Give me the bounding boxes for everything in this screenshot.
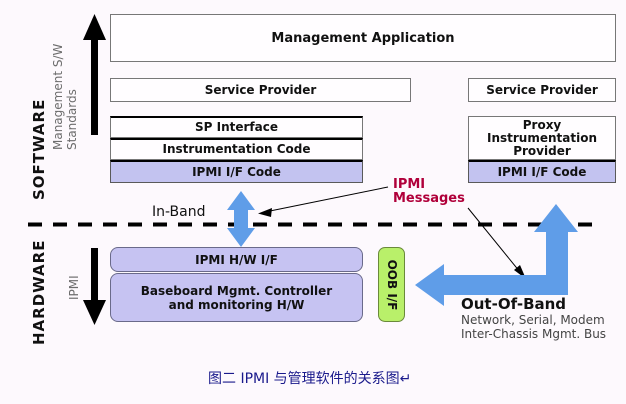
diagram-canvas: SOFTWARE HARDWARE Management S/W Standar…	[0, 0, 626, 404]
axis-label-hardware: HARDWARE	[30, 240, 48, 345]
arrow-out-of-band-elbow	[415, 204, 578, 306]
box-instrumentation-code: Instrumentation Code	[110, 138, 363, 160]
bmc-line-2: and monitoring H/W	[169, 298, 305, 312]
box-ipmi-hw-if: IPMI H/W I/F	[110, 247, 363, 272]
axis-label-mgmt-standards-line1: Management S/W	[52, 44, 65, 150]
ipmi-messages-line-2: Messages	[393, 192, 465, 206]
label-ipmi-messages: IPMI Messages	[393, 178, 465, 206]
leader-line-ipmi-messages-in-band	[258, 187, 388, 217]
label-out-of-band-sub: Network, Serial, Modem Inter-Chassis Mgm…	[461, 313, 606, 341]
oob-if-label: OOB I/F	[385, 259, 399, 310]
axis-label-ipmi: IPMI	[68, 275, 81, 300]
axis-label-mgmt-standards-line2: Standards	[66, 89, 79, 150]
out-of-band-sub-line-1: Network, Serial, Modem	[461, 313, 606, 327]
out-of-band-sub-line-2: Inter-Chassis Mgmt. Bus	[461, 327, 606, 341]
box-proxy-instrumentation-provider: Proxy Instrumentation Provider	[468, 116, 616, 160]
bmc-line-1: Baseboard Mgmt. Controller	[141, 284, 332, 298]
arrow-down-ipmi	[83, 248, 106, 325]
box-service-provider-left: Service Provider	[110, 78, 411, 102]
box-sp-interface: SP Interface	[110, 116, 363, 138]
proxy-line-2: Instrumentation	[487, 132, 597, 145]
box-oob-if: OOB I/F	[378, 247, 405, 322]
figure-caption: 图二 IPMI 与管理软件的关系图↵	[208, 368, 411, 388]
ipmi-messages-line-1: IPMI	[393, 178, 465, 192]
label-in-band: In-Band	[152, 204, 206, 220]
arrow-up-management-standards	[83, 14, 106, 135]
box-management-application: Management Application	[110, 14, 616, 62]
box-baseboard-mgmt-controller: Baseboard Mgmt. Controller and monitorin…	[110, 273, 363, 322]
leader-line-ipmi-messages-out-of-band	[468, 208, 526, 279]
box-service-provider-right: Service Provider	[468, 78, 616, 102]
arrow-double-in-band	[227, 191, 255, 247]
label-out-of-band-title: Out-Of-Band	[461, 295, 566, 313]
box-ipmi-if-code-left: IPMI I/F Code	[110, 160, 363, 183]
box-ipmi-if-code-right: IPMI I/F Code	[468, 160, 616, 183]
proxy-line-1: Proxy	[523, 119, 562, 132]
axis-label-software: SOFTWARE	[30, 99, 48, 200]
proxy-line-3: Provider	[513, 145, 571, 158]
